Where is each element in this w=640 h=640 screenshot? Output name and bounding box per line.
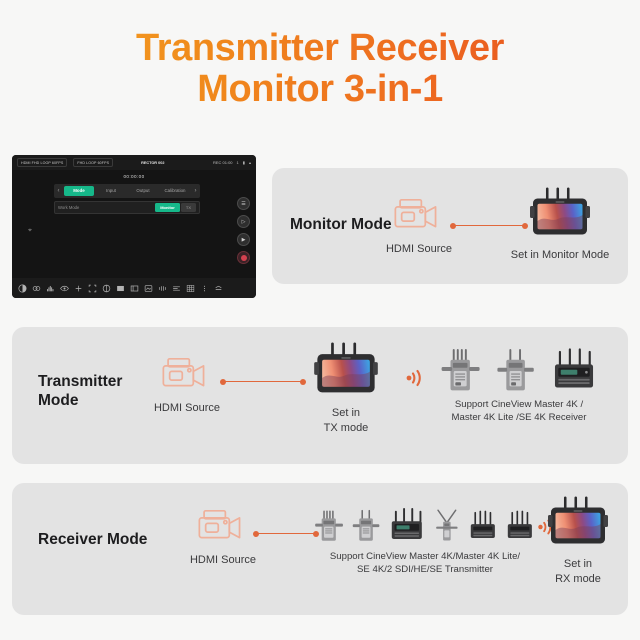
osd-count-status: 1 <box>237 160 239 165</box>
osd-topbar: HDMI FHD LOOP 60FPS FHD LOOP 60FPS RECTO… <box>12 155 256 170</box>
cineview-master-4k-receiver <box>440 347 482 395</box>
false-color-icon[interactable] <box>30 282 43 295</box>
monitor-device-node: Set in Monitor Mode <box>504 186 616 263</box>
tab-prev-arrow[interactable]: ‹ <box>54 188 63 194</box>
tx-monitor-device-node: Set in TX mode <box>290 341 402 435</box>
camcorder-icon <box>393 196 445 232</box>
osd-tab-bar[interactable]: ‹ Mode Input Output Calibration › <box>54 184 200 198</box>
battery-icon: ▮ <box>243 160 245 165</box>
cineview-2-sdi-transmitter <box>433 505 461 547</box>
focus-assist-icon[interactable] <box>58 282 71 295</box>
work-mode-options[interactable]: Monitor TX <box>155 203 196 212</box>
tx-supported-devices-caption: Support CineView Master 4K / Master 4K L… <box>424 399 614 424</box>
transmitter-mode-label: Transmitter Mode <box>38 373 122 411</box>
camcorder-icon <box>161 355 213 391</box>
monitor-osd-screenshot: HDMI FHD LOOP 60FPS FHD LOOP 60FPS RECTO… <box>12 155 256 298</box>
tab-input[interactable]: Input <box>96 186 126 196</box>
osd-chip-left: HDMI FHD LOOP 60FPS <box>17 158 67 167</box>
grid-icon[interactable] <box>184 282 197 295</box>
vectorscope-icon[interactable] <box>212 282 225 295</box>
osd-status-group: REC 01:00 1 ▮ ▴ <box>213 160 251 165</box>
tab-output[interactable]: Output <box>128 186 158 196</box>
more-icon[interactable] <box>198 282 211 295</box>
osd-rec-status: REC 01:00 <box>213 160 233 165</box>
osd-device-title: RECTOR 002 <box>141 161 164 165</box>
tab-next-arrow[interactable]: › <box>191 188 200 194</box>
cineview-se-4k-transmitter <box>387 505 427 547</box>
rx-device-row <box>314 503 536 547</box>
rx-hdmi-source-caption: HDMI Source <box>178 553 268 568</box>
osd-toolbar[interactable] <box>12 278 256 298</box>
rx-supported-devices-caption: Support CineView Master 4K/Master 4K Lit… <box>314 551 536 576</box>
cursor-icon: ⌖ <box>28 227 32 235</box>
monitor-device-icon <box>311 341 381 396</box>
tab-calibration[interactable]: Calibration <box>160 186 190 196</box>
frame-icon[interactable] <box>128 282 141 295</box>
playback-button[interactable]: ▷ <box>237 215 250 228</box>
tx-supported-devices-node: Support CineView Master 4K / Master 4K L… <box>424 345 614 424</box>
receiver-mode-label: Receiver Mode <box>38 531 147 550</box>
histogram-icon[interactable] <box>44 282 57 295</box>
monitor-device-icon <box>545 495 611 547</box>
title-line-1: Transmitter Receiver <box>0 28 640 69</box>
anamorphic-icon[interactable] <box>100 282 113 295</box>
work-mode-setting-row[interactable]: Work Mode Monitor TX <box>54 201 200 214</box>
record-button[interactable] <box>237 251 250 264</box>
cineview-master-4k-transmitter <box>314 505 345 547</box>
tx-hdmi-source-caption: HDMI Source <box>142 401 232 416</box>
work-mode-option-tx[interactable]: TX <box>181 203 196 212</box>
rx-connector-line <box>253 529 319 538</box>
connector-bar <box>257 533 315 534</box>
audio-icon[interactable] <box>156 282 169 295</box>
rx-monitor-device-node: Set in RX mode <box>540 495 616 586</box>
rx-supported-devices-node: Support CineView Master 4K/Master 4K Lit… <box>314 503 536 576</box>
cineview-se-4k-receiver <box>550 347 598 395</box>
osd-side-button-group[interactable]: ☰ ▷ ▶ <box>237 197 250 264</box>
title-line-2: Monitor 3-in-1 <box>0 69 640 110</box>
rx-monitor-device-caption: Set in RX mode <box>540 557 616 586</box>
center-marker-icon[interactable] <box>72 282 85 295</box>
monitor-device-caption: Set in Monitor Mode <box>504 248 616 263</box>
play-button[interactable]: ▶ <box>237 233 250 246</box>
work-mode-label: Work Mode <box>58 205 79 210</box>
tx-device-row <box>424 345 614 395</box>
tab-mode[interactable]: Mode <box>64 186 94 196</box>
cineview-master-4k-lite-transmitter <box>351 505 382 547</box>
camcorder-icon <box>197 507 249 543</box>
tx-hdmi-source-node: HDMI Source <box>142 355 232 416</box>
transmitter-mode-card: Transmitter Mode HDMI Source <box>12 327 628 464</box>
menu-button[interactable]: ☰ <box>237 197 250 210</box>
tx-monitor-device-caption: Set in TX mode <box>290 406 402 435</box>
signal-icon: ▴ <box>249 160 251 165</box>
receiver-mode-card: Receiver Mode HDMI Source <box>12 483 628 615</box>
image-icon[interactable] <box>142 282 155 295</box>
work-mode-option-monitor[interactable]: Monitor <box>155 203 180 212</box>
page-title: Transmitter Receiver Monitor 3-in-1 <box>0 0 640 110</box>
cineview-se-transmitter <box>504 505 536 547</box>
cineview-master-4k-lite-receiver <box>495 347 537 395</box>
cineview-he-transmitter <box>467 505 499 547</box>
osd-chip-right: FHD LOOP 60FPS <box>73 158 113 167</box>
scale-icon[interactable] <box>86 282 99 295</box>
osd-timecode: 00:00:00 <box>12 174 256 179</box>
monitor-hdmi-source-caption: HDMI Source <box>374 242 464 257</box>
contrast-icon[interactable] <box>16 282 29 295</box>
waveform-icon[interactable] <box>170 282 183 295</box>
monitor-device-icon <box>527 186 593 238</box>
monitor-mode-card: Monitor Mode HDMI Source <box>272 168 628 284</box>
display-icon[interactable] <box>114 282 127 295</box>
infographic-page: Transmitter Receiver Monitor 3-in-1 HDMI… <box>0 0 640 640</box>
